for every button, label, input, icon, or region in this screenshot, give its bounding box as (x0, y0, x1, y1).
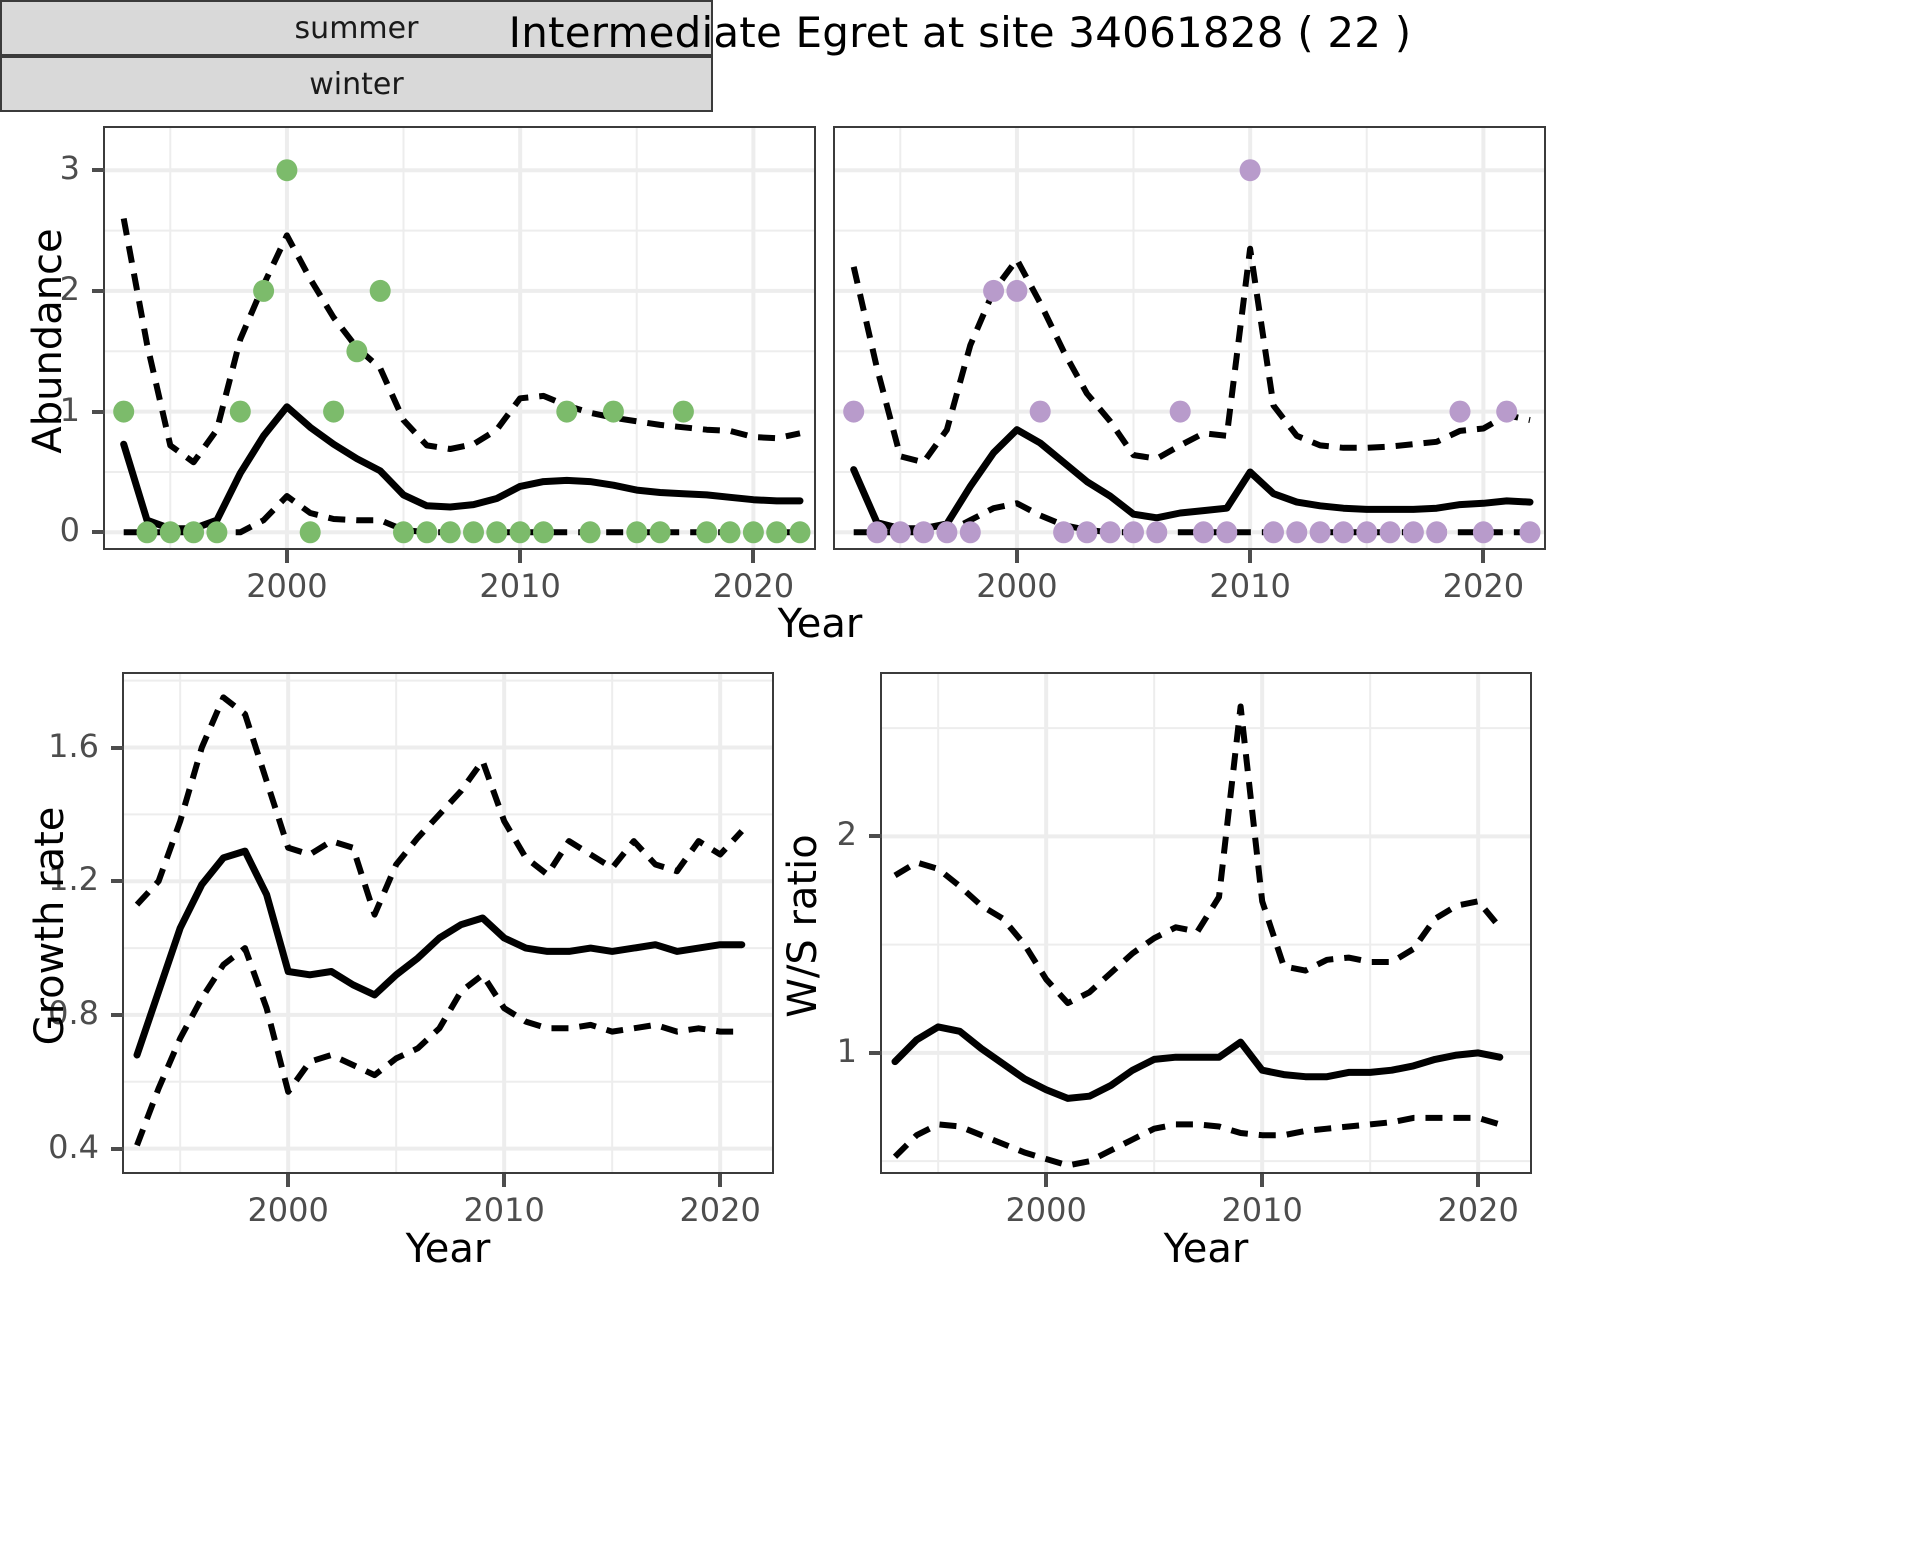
axis-title-abundance-x: Year (0, 601, 1640, 647)
data-point (160, 521, 181, 543)
x-tick-mark (1476, 1174, 1480, 1187)
x-tick-label: 2010 (479, 567, 560, 605)
data-point (393, 521, 414, 543)
x-tick-label: 2020 (1443, 567, 1524, 605)
y-tick-mark (869, 834, 882, 838)
data-point (1426, 521, 1447, 543)
data-point (1006, 280, 1027, 302)
data-point (1520, 521, 1541, 543)
data-point (300, 521, 321, 543)
x-tick-mark (502, 1174, 506, 1187)
x-tick-label: 2000 (1005, 1191, 1086, 1229)
data-point (510, 521, 531, 543)
series-upper-CI (895, 707, 1500, 1004)
data-point (206, 521, 227, 543)
x-tick-mark (1044, 1174, 1048, 1187)
data-point (1100, 521, 1121, 543)
y-tick-label: 0 (60, 511, 80, 549)
y-tick-mark (111, 746, 124, 750)
data-point (253, 280, 274, 302)
y-tick-label: 0.4 (48, 1128, 99, 1166)
data-point (720, 521, 741, 543)
y-tick-label: 3 (60, 149, 80, 187)
axis-title-growth-y: Growth rate (27, 756, 73, 1096)
x-tick-label: 2020 (1437, 1191, 1518, 1229)
data-point (1123, 521, 1144, 543)
panel-abundance-winter (833, 126, 1546, 550)
data-point (1146, 521, 1167, 543)
data-point (673, 401, 694, 423)
facet-strip-winter-label: winter (309, 67, 403, 102)
data-point (137, 521, 158, 543)
data-point (843, 401, 864, 423)
x-tick-label: 2000 (246, 567, 327, 605)
data-point (113, 401, 134, 423)
series-fitted-mean (895, 1027, 1500, 1099)
data-point (983, 280, 1004, 302)
y-tick-mark (92, 168, 105, 172)
x-tick-mark (751, 550, 755, 563)
axis-title-abundance-y: Abundance (25, 201, 71, 481)
data-point (1193, 521, 1214, 543)
data-point (1450, 401, 1471, 423)
y-tick-label: 1 (837, 1032, 857, 1070)
plot-growth-rate (124, 674, 772, 1172)
series-lower-CI (137, 948, 742, 1145)
data-point (936, 521, 957, 543)
x-tick-label: 2010 (1221, 1191, 1302, 1229)
data-point (626, 521, 647, 543)
axis-title-ratio-y: W/S ratio (780, 756, 826, 1096)
data-point (556, 401, 577, 423)
data-point (1216, 521, 1237, 543)
x-tick-mark (1248, 550, 1252, 563)
data-point (580, 521, 601, 543)
data-point (1333, 521, 1354, 543)
data-point (890, 521, 911, 543)
x-tick-mark (718, 1174, 722, 1187)
plot-abundance-winter (835, 128, 1544, 548)
data-point (1030, 401, 1051, 423)
panel-growth-rate (122, 672, 774, 1174)
x-tick-label: 2020 (713, 567, 794, 605)
x-tick-label: 2010 (463, 1191, 544, 1229)
data-point (323, 401, 344, 423)
x-tick-mark (1015, 550, 1019, 563)
data-point (1263, 521, 1284, 543)
data-point (533, 521, 554, 543)
panel-abundance-summer (103, 126, 816, 550)
data-point (416, 521, 437, 543)
y-tick-mark (111, 879, 124, 883)
y-tick-label: 2 (837, 815, 857, 853)
series-fitted-mean (124, 407, 800, 529)
x-tick-mark (1481, 550, 1485, 563)
data-point (743, 521, 764, 543)
plot-ws-ratio (882, 674, 1530, 1172)
data-point (1170, 401, 1191, 423)
data-point (276, 159, 297, 181)
data-point (1240, 159, 1261, 181)
series-upper-CI (854, 249, 1530, 463)
data-point (867, 521, 888, 543)
figure-root: Intermediate Egret at site 34061828 ( 22… (0, 0, 1920, 1560)
data-point (960, 521, 981, 543)
data-point (1356, 521, 1377, 543)
panel-ws-ratio (880, 672, 1532, 1174)
data-point (486, 521, 507, 543)
data-point (1403, 521, 1424, 543)
y-tick-mark (869, 1051, 882, 1055)
data-point (1496, 401, 1517, 423)
data-point (1380, 521, 1401, 543)
x-tick-mark (286, 1174, 290, 1187)
data-point (1286, 521, 1307, 543)
y-tick-mark (92, 410, 105, 414)
x-tick-label: 2000 (976, 567, 1057, 605)
y-tick-mark (111, 1013, 124, 1017)
data-point (603, 401, 624, 423)
data-point (1310, 521, 1331, 543)
data-point (696, 521, 717, 543)
x-tick-label: 2010 (1209, 567, 1290, 605)
data-point (183, 521, 204, 543)
data-point (1473, 521, 1494, 543)
data-point (463, 521, 484, 543)
data-point (790, 521, 811, 543)
data-point (650, 521, 671, 543)
x-tick-mark (1260, 1174, 1264, 1187)
series-upper-CI (124, 219, 800, 463)
data-point (346, 340, 367, 362)
data-point (766, 521, 787, 543)
x-tick-mark (285, 550, 289, 563)
data-point (230, 401, 251, 423)
facet-strip-winter: winter (0, 56, 713, 112)
y-tick-mark (92, 530, 105, 534)
series-lower-CI (895, 1118, 1500, 1166)
x-tick-mark (518, 550, 522, 563)
plot-abundance-summer (105, 128, 814, 548)
data-point (1076, 521, 1097, 543)
axis-title-ratio-x: Year (880, 1226, 1532, 1272)
x-tick-label: 2020 (679, 1191, 760, 1229)
data-point (370, 280, 391, 302)
x-tick-label: 2000 (247, 1191, 328, 1229)
data-point (1053, 521, 1074, 543)
figure-title: Intermediate Egret at site 34061828 ( 22… (0, 8, 1920, 57)
y-tick-mark (92, 289, 105, 293)
data-point (440, 521, 461, 543)
data-point (913, 521, 934, 543)
axis-title-growth-x: Year (122, 1226, 774, 1272)
y-tick-mark (111, 1147, 124, 1151)
